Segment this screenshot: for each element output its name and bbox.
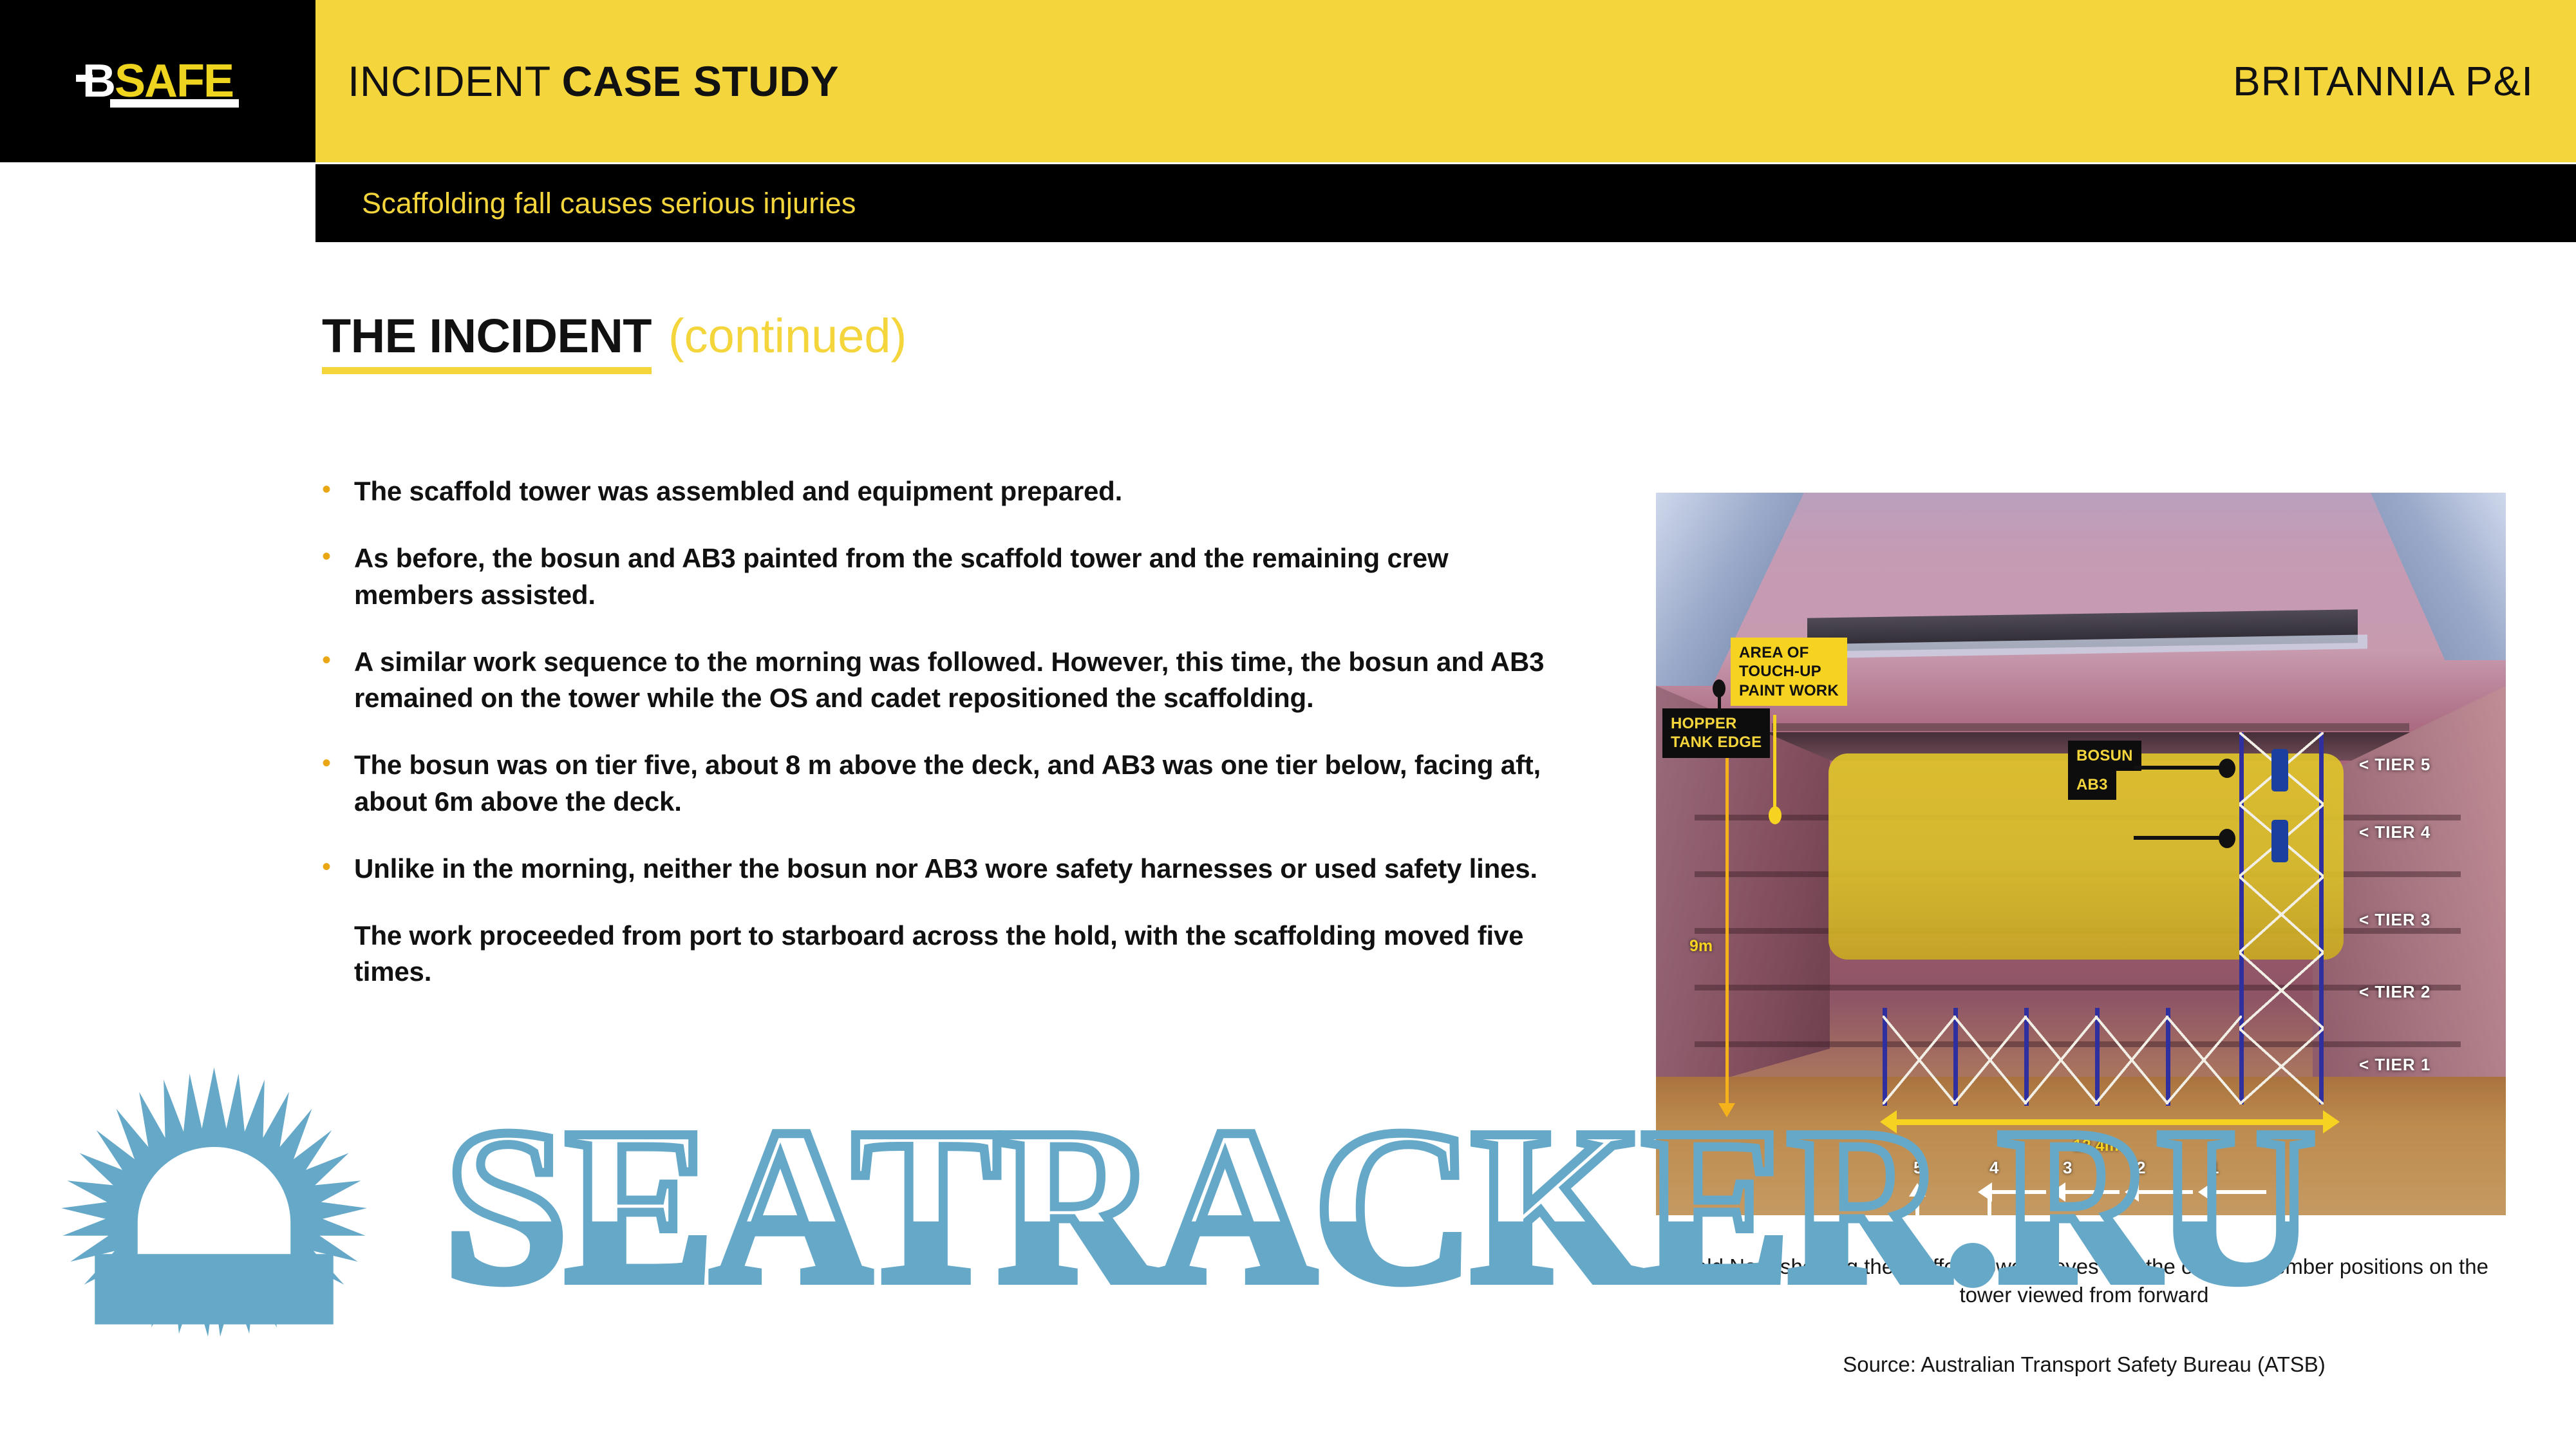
subtitle-bar: Scaffolding fall causes serious injuries [315, 164, 2576, 242]
move-number-2: 2 [2136, 1158, 2145, 1178]
hold-diagram-figure: 9m 12.4m 5 4 3 2 1 MOVES REQUIRED ACROSS… [1656, 493, 2506, 1215]
move-end-stem [1988, 1195, 1991, 1215]
logo-underline-bar [110, 99, 239, 108]
move-number-3: 3 [2063, 1158, 2072, 1178]
sky-wedge-right [2371, 493, 2506, 660]
tier-label-3: < TIER 3 [2359, 910, 2430, 930]
tier-label-2: < TIER 2 [2359, 982, 2430, 1002]
bullet-marker: • [315, 851, 354, 887]
bullet-text: The work proceeded from port to starboar… [354, 918, 1565, 990]
subtitle-text: Scaffolding fall causes serious injuries [362, 187, 856, 220]
move-number-4: 4 [1989, 1158, 1998, 1178]
move-start-stem [1915, 1195, 1919, 1215]
logo-letter-b: B [82, 58, 115, 104]
horizontal-dimension-line [1895, 1119, 2326, 1125]
move-arrowhead [2051, 1182, 2065, 1202]
ab3-leader-line [2134, 836, 2224, 840]
scaffold-brace [2239, 952, 2324, 1028]
list-item: • The scaffold tower was assembled and e… [315, 473, 1565, 509]
bullet-marker: • [315, 473, 354, 509]
scaffold-brace [2239, 876, 2324, 952]
bosun-leader-line [2134, 766, 2224, 770]
move-arrow [2138, 1190, 2193, 1194]
paint-leader-dot [1769, 806, 1782, 824]
tier-label-4: < TIER 4 [2359, 822, 2430, 842]
horizontal-dimension-label: 12.4m [2073, 1137, 2119, 1155]
bosun-leader-dot [2219, 759, 2235, 778]
dimension-arrow-left [1880, 1110, 1897, 1133]
move-arrowhead [2125, 1182, 2139, 1202]
bullet-marker: • [315, 540, 354, 613]
page-title: THE INCIDENT(continued) [322, 312, 907, 374]
paint-area-label: AREA OF TOUCH-UP PAINT WORK [1731, 638, 1847, 706]
sun-logo-icon [61, 1066, 367, 1375]
list-item: The work proceeded from port to starboar… [315, 918, 1565, 990]
stringer-line [1695, 985, 2461, 990]
vertical-dimension-label: 9m [1689, 937, 1713, 956]
scaffold-brace [2239, 1028, 2324, 1104]
move-arrow [1991, 1190, 2046, 1194]
bullet-marker: • [315, 747, 354, 820]
hopper-edge-line [1772, 723, 2409, 731]
dimension-arrow-down [1718, 1103, 1735, 1117]
scaffold-brace [2024, 1016, 2098, 1104]
figure-caption: Hold No.4 showing the scaffold tower mov… [1656, 1253, 2512, 1309]
scaffold-brace [1883, 1016, 1956, 1104]
header-title-light: INCIDENT [348, 57, 551, 106]
bullet-text: As before, the bosun and AB3 painted fro… [354, 540, 1565, 613]
ab3-label: AB3 [2068, 770, 2116, 800]
header-brand: BRITANNIA P&I [2233, 0, 2534, 162]
paint-leader-line [1773, 715, 1776, 811]
scaffold-brace [2166, 1016, 2242, 1104]
move-number-5: 5 [1913, 1158, 1923, 1178]
tier-label-5: < TIER 5 [2359, 755, 2430, 775]
bullet-marker [315, 918, 354, 990]
figure-source: Source: Australian Transport Safety Bure… [1656, 1352, 2512, 1377]
header-band: INCIDENT CASE STUDY BRITANNIA P&I [0, 0, 2576, 162]
list-item: • As before, the bosun and AB3 painted f… [315, 540, 1565, 613]
bullet-text: The bosun was on tier five, about 8 m ab… [354, 747, 1565, 820]
list-item: • The bosun was on tier five, about 8 m … [315, 747, 1565, 820]
bullet-text: The scaffold tower was assembled and equ… [354, 473, 1565, 509]
header-title-bold: CASE STUDY [562, 57, 839, 106]
bullet-list: • The scaffold tower was assembled and e… [315, 473, 1565, 1021]
cargo-hold-photo: 9m 12.4m 5 4 3 2 1 MOVES REQUIRED ACROSS… [1656, 493, 2506, 1215]
scaffold-brace [1953, 1016, 2027, 1104]
bsafe-logo: BSAFE [0, 0, 315, 162]
dimension-arrow-right [2323, 1110, 2340, 1133]
page-title-continued: (continued) [668, 312, 907, 360]
logo-wrap: BSAFE [73, 58, 243, 104]
tier-label-1: < TIER 1 [2359, 1055, 2430, 1075]
list-item: • Unlike in the morning, neither the bos… [315, 851, 1565, 887]
hopper-tank-edge-label: HOPPER TANK EDGE [1662, 708, 1770, 758]
bullet-text: A similar work sequence to the morning w… [354, 644, 1565, 717]
ab3-figure [2271, 820, 2288, 862]
bullet-marker: • [315, 644, 354, 717]
ab3-leader-dot [2219, 829, 2235, 848]
bosun-label: BOSUN [2068, 741, 2141, 771]
bosun-figure [2271, 749, 2288, 791]
list-item: • A similar work sequence to the morning… [315, 644, 1565, 717]
hopper-leader-line [1718, 686, 1721, 712]
move-arrowhead [2198, 1182, 2212, 1202]
move-arrow [2211, 1190, 2266, 1194]
vertical-dimension-line [1725, 750, 1729, 1108]
bullet-text: Unlike in the morning, neither the bosun… [354, 851, 1565, 887]
move-number-1: 1 [2210, 1158, 2219, 1178]
move-arrow [2064, 1190, 2120, 1194]
scaffold-brace [2095, 1016, 2168, 1104]
logo-text: BSAFE [73, 58, 243, 104]
page-title-main: THE INCIDENT [322, 312, 652, 374]
header-title: INCIDENT CASE STUDY [348, 0, 839, 162]
